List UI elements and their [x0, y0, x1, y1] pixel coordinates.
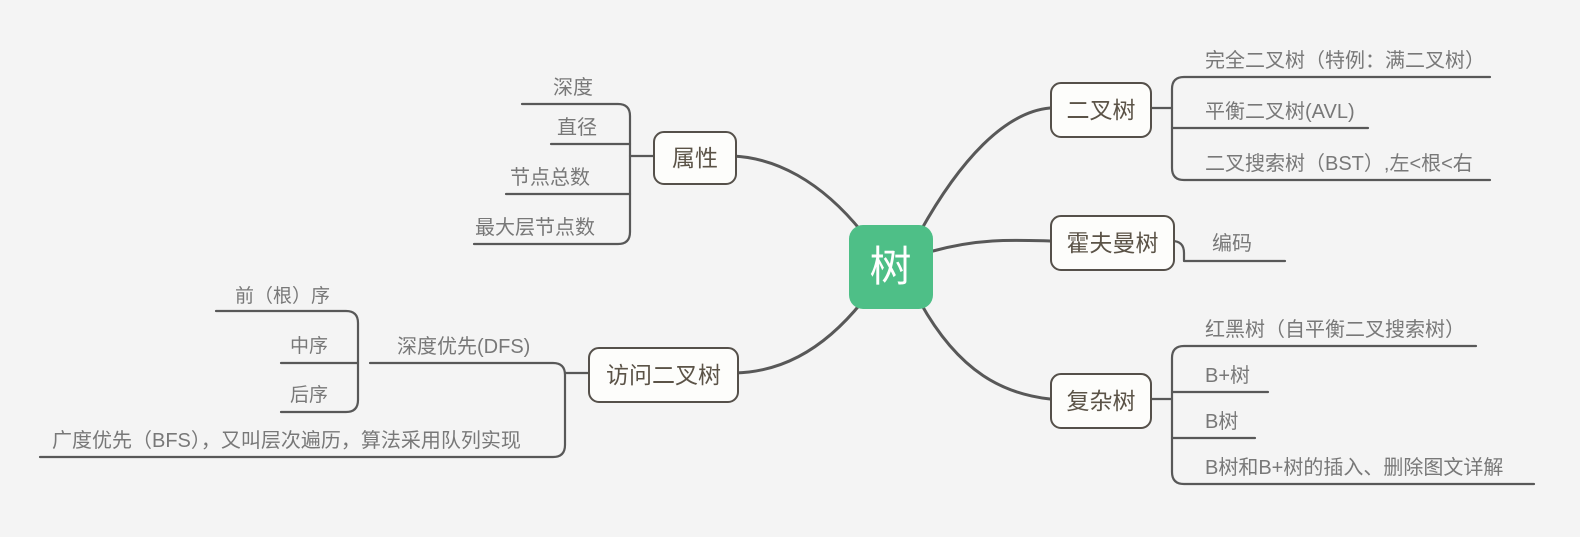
branch-node-attributes[interactable]: 属性: [653, 131, 737, 185]
branch-node-complex-tree[interactable]: 复杂树: [1050, 373, 1152, 429]
leaf-attributes-total-nodes[interactable]: 节点总数: [503, 168, 597, 195]
wire-root-attributes: [733, 156, 862, 232]
leaf-huffman-encoding[interactable]: 编码: [1205, 234, 1259, 261]
leaf-visit-dfs[interactable]: 深度优先(DFS): [390, 337, 537, 364]
wire-root-complex: [920, 302, 1050, 399]
leaf-visit-bfs[interactable]: 广度优先（BFS），又叫层次遍历，算法采用队列实现: [45, 431, 528, 458]
branch-label-binary-tree: 二叉树: [1067, 99, 1136, 122]
root-node[interactable]: 树: [849, 225, 933, 309]
root-label: 树: [869, 246, 912, 288]
leaf-complex-red-black[interactable]: 红黑树（自平衡二叉搜索树）: [1198, 320, 1472, 347]
leaf-dfs-preorder[interactable]: 前（根）序: [228, 287, 337, 313]
branch-node-visit-binary-tree[interactable]: 访问二叉树: [588, 347, 739, 403]
branch-node-huffman-tree[interactable]: 霍夫曼树: [1050, 215, 1175, 271]
leaf-attributes-depth[interactable]: 深度: [546, 78, 600, 105]
leaf-binary-bst[interactable]: 二叉搜索树（BST）,左<根<右: [1198, 154, 1480, 181]
leaf-attributes-diameter[interactable]: 直径: [550, 118, 604, 145]
wire-root-visit: [735, 302, 862, 373]
branch-label-complex-tree: 复杂树: [1067, 390, 1136, 413]
leaf-complex-b[interactable]: B树: [1198, 412, 1245, 439]
leaf-attributes-max-level-nodes[interactable]: 最大层节点数: [468, 218, 602, 245]
leaf-complex-insert-delete[interactable]: B树和B+树的插入、删除图文详解: [1198, 458, 1510, 485]
leaf-binary-complete[interactable]: 完全二叉树（特例：满二叉树）: [1198, 51, 1492, 78]
wire-root-binary: [920, 108, 1050, 232]
branch-label-huffman-tree: 霍夫曼树: [1067, 232, 1159, 255]
wire-root-huffman: [933, 240, 1050, 251]
leaf-complex-bplus[interactable]: B+树: [1198, 366, 1257, 393]
leaf-binary-avl[interactable]: 平衡二叉树(AVL): [1198, 102, 1362, 129]
branch-node-binary-tree[interactable]: 二叉树: [1050, 82, 1152, 138]
mindmap-canvas: 树 属性 访问二叉树 二叉树 霍夫曼树 复杂树 深度 直径 节点总数 最大层节点…: [0, 0, 1580, 537]
leaf-dfs-postorder[interactable]: 后序: [283, 386, 335, 412]
leaf-dfs-inorder[interactable]: 中序: [283, 337, 335, 363]
branch-label-visit-binary-tree: 访问二叉树: [606, 364, 721, 387]
branch-label-attributes: 属性: [672, 147, 718, 170]
